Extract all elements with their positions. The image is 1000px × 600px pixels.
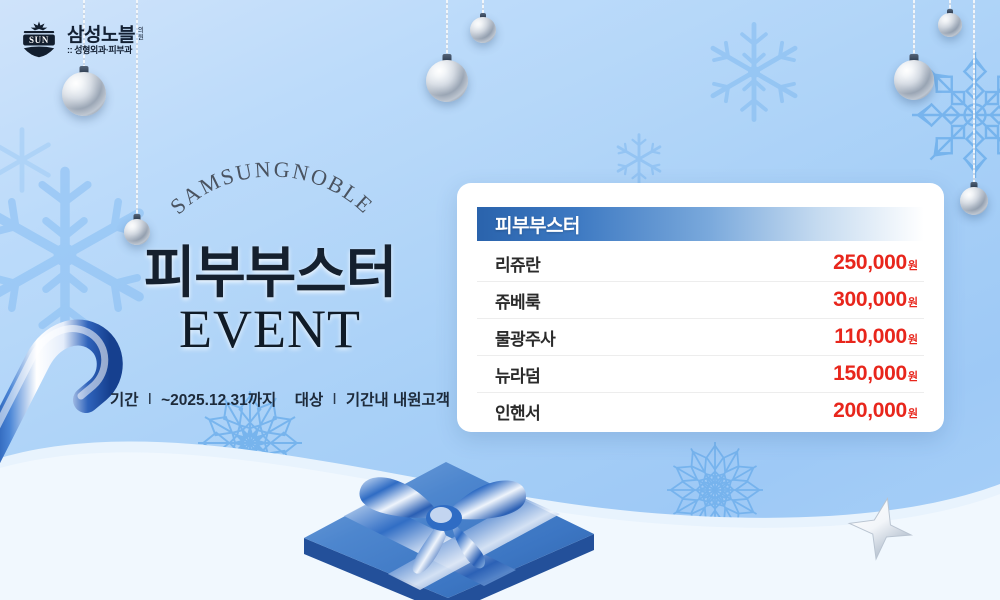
price-card-header-title: 피부부스터 <box>477 211 580 238</box>
price-amount: 250,000 <box>833 251 907 275</box>
price-row-value: 250,000원 <box>833 251 918 275</box>
price-card-header: 피부부스터 <box>477 207 924 241</box>
ornament-ball-4 <box>892 0 936 100</box>
price-card: 피부부스터 리쥬란250,000원쥬베룩300,000원물광주사110,000원… <box>457 183 944 432</box>
logo-department: :: 성형외과·피부과 <box>67 46 144 55</box>
arc-text: SAMSUNGNOBLE <box>165 156 379 219</box>
page-title-korean: 피부부스터 <box>110 228 430 309</box>
snowflake-icon <box>610 130 668 188</box>
price-row-value: 300,000원 <box>833 288 918 312</box>
price-row-name: 리쥬란 <box>495 251 540 276</box>
price-table: 리쥬란250,000원쥬베룩300,000원물광주사110,000원뉴라덤150… <box>477 245 924 429</box>
period-value: ~2025.12.31까지 <box>161 388 276 410</box>
price-currency-unit: 원 <box>908 294 918 310</box>
svg-text:SUN: SUN <box>29 35 49 45</box>
logo-suffix-line2: 원 <box>138 34 144 41</box>
star-icon <box>845 492 915 562</box>
price-row: 쥬베룩300,000원 <box>477 282 924 319</box>
target-value: 기간내 내원고객 <box>346 388 450 410</box>
logo-suffix: 의 원 <box>138 26 144 42</box>
price-row-name: 물광주사 <box>495 325 555 350</box>
clinic-logo: SUN 삼성노블 의 원 :: 성형외과·피부과 <box>18 20 144 60</box>
period-label: 기간 <box>110 388 139 410</box>
period-divider: Ⅰ <box>148 390 153 409</box>
price-row: 인핸서200,000원 <box>477 393 924 429</box>
price-currency-unit: 원 <box>908 405 918 421</box>
price-currency-unit: 원 <box>908 368 918 384</box>
target-divider: Ⅰ <box>332 390 337 409</box>
price-row: 뉴라덤150,000원 <box>477 356 924 393</box>
ornament-ball-3 <box>468 0 498 44</box>
price-row-value: 200,000원 <box>833 399 918 423</box>
price-currency-unit: 원 <box>908 257 918 273</box>
price-amount: 200,000 <box>833 399 907 423</box>
price-row-name: 인핸서 <box>495 399 540 424</box>
price-row-name: 뉴라덤 <box>495 362 540 387</box>
logo-brand-name: 삼성노블 <box>67 26 135 45</box>
price-row-name: 쥬베룩 <box>495 288 540 313</box>
price-amount: 150,000 <box>833 362 907 386</box>
price-currency-unit: 원 <box>908 331 918 347</box>
gift-box-icon <box>288 438 608 600</box>
price-row: 물광주사110,000원 <box>477 319 924 356</box>
crest-emblem-icon: SUN <box>18 20 60 60</box>
candy-cane-icon <box>0 290 126 465</box>
ornament-ball-6 <box>958 0 990 218</box>
page-title-english: EVENT <box>110 298 430 360</box>
logo-suffix-line1: 의 <box>138 27 144 34</box>
snowflake-icon <box>700 18 808 126</box>
price-row-value: 150,000원 <box>833 362 918 386</box>
ornament-ball-2 <box>424 0 470 102</box>
price-row-value: 110,000원 <box>834 325 918 349</box>
price-amount: 110,000 <box>834 325 907 349</box>
price-row: 리쥬란250,000원 <box>477 245 924 282</box>
event-meta: 기간 Ⅰ ~2025.12.31까지 대상 Ⅰ 기간내 내원고객 <box>110 388 450 410</box>
snowflake-icon <box>0 120 62 200</box>
target-label: 대상 <box>295 388 324 410</box>
price-amount: 300,000 <box>833 288 907 312</box>
promo-banner: SUN 삼성노블 의 원 :: 성형외과·피부과 SAMSUNGNOBLE 피부… <box>0 0 1000 600</box>
